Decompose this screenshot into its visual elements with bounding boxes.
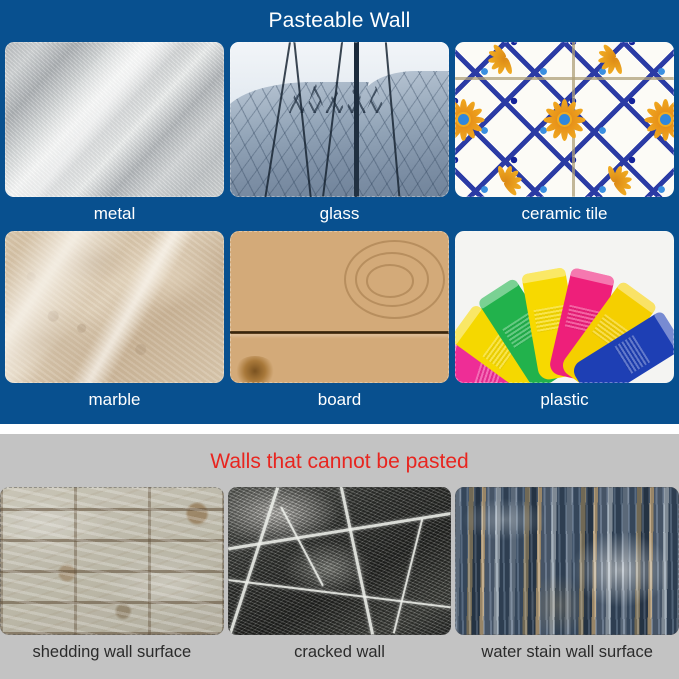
pasteable-item-marble[interactable]: marble: [5, 231, 224, 417]
pasteable-title: Pasteable Wall: [0, 0, 679, 35]
cracked-noise: [228, 487, 452, 635]
non-pasteable-section: Walls that cannot be pasted shedding wal…: [0, 434, 679, 679]
infographic-page: Pasteable Wall metal: [0, 0, 679, 679]
pasteable-label-metal: metal: [5, 197, 224, 231]
non-pasteable-item-water-stain[interactable]: water stain wall surface: [455, 487, 679, 669]
glass-mullion: [354, 42, 359, 197]
pasteable-label-glass: glass: [230, 197, 449, 231]
metal-texture-image: [5, 42, 224, 197]
pasteable-label-plastic: plastic: [455, 383, 674, 417]
glass-pane-right: [351, 71, 449, 197]
board-texture-image: [230, 231, 449, 383]
tile-corner-motif-4: [595, 162, 635, 198]
pasteable-item-ceramic-tile[interactable]: ceramic tile: [455, 42, 674, 231]
pasteable-grid-row2: marble board: [5, 231, 674, 417]
plastic-texture-image: [455, 231, 674, 383]
pasteable-item-metal[interactable]: metal: [5, 42, 224, 231]
tile-rosette-center: [543, 98, 587, 142]
wood-knot: [234, 356, 276, 383]
pasteable-section: Pasteable Wall metal: [0, 0, 679, 424]
pasteable-label-ceramic-tile: ceramic tile: [455, 197, 674, 231]
pasteable-label-board: board: [230, 383, 449, 417]
pasteable-item-glass[interactable]: glass: [230, 42, 449, 231]
plank-seam: [230, 331, 449, 334]
tile-corner-motif-1: [485, 42, 525, 78]
water-stain-texture-image: [455, 487, 679, 635]
non-pasteable-item-shedding[interactable]: shedding wall surface: [0, 487, 224, 669]
glass-texture-image: [230, 42, 449, 197]
section-divider: [0, 424, 679, 434]
pasteable-label-marble: marble: [5, 383, 224, 417]
cracked-wall-texture-image: [228, 487, 452, 635]
shedding-wall-texture-image: [0, 487, 224, 635]
pasteable-grid: metal glass: [5, 42, 674, 231]
non-pasteable-title: Walls that cannot be pasted: [0, 434, 679, 477]
thumb-edge: [5, 42, 224, 197]
tile-corner-motif-3: [485, 162, 525, 198]
tile-corner-motif-2: [595, 42, 635, 78]
pasteable-item-board[interactable]: board: [230, 231, 449, 417]
non-pasteable-label-cracked: cracked wall: [228, 635, 452, 669]
water-stain-streaks: [455, 487, 679, 635]
paint-flaking: [0, 487, 224, 635]
wood-grain-ring-3: [366, 264, 414, 297]
ceramic-tile-texture-image: [455, 42, 674, 197]
non-pasteable-label-water-stain: water stain wall surface: [455, 635, 679, 669]
tile-rosette-left: [455, 98, 486, 142]
non-pasteable-label-shedding: shedding wall surface: [0, 635, 224, 669]
marble-texture-image: [5, 231, 224, 383]
tile-rosette-right: [643, 98, 674, 142]
non-pasteable-grid: shedding wall surface cracked wall: [0, 487, 679, 669]
pasteable-item-plastic[interactable]: plastic: [455, 231, 674, 417]
non-pasteable-item-cracked[interactable]: cracked wall: [228, 487, 452, 669]
